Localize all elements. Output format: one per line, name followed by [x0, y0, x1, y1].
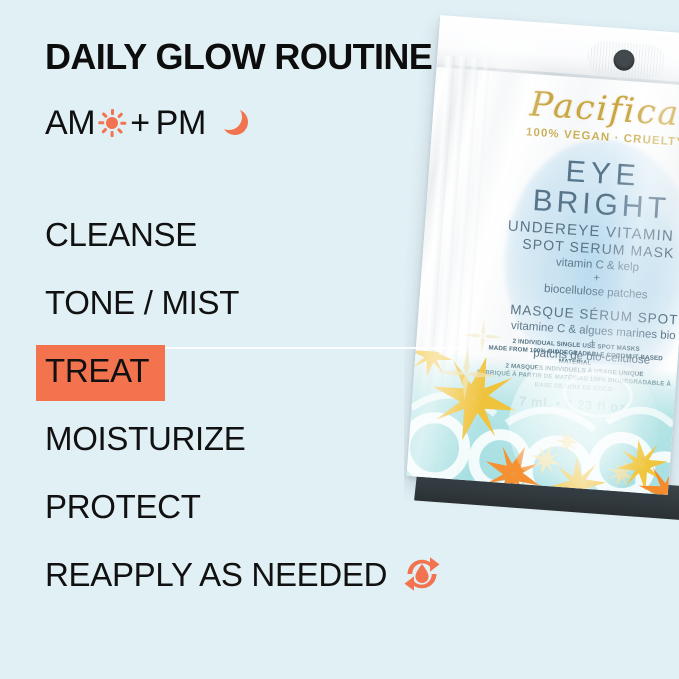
step-tone-mist[interactable]: TONE / MIST [45, 268, 465, 336]
brand-logo: Pacifica [529, 84, 679, 134]
schedule-separator: + [130, 106, 149, 140]
page-title: DAILY GLOW ROUTINE [45, 36, 432, 78]
poster-canvas: Pacifica 100% VEGAN · CRUELTY-FREE EYE B… [0, 0, 679, 679]
step-protect[interactable]: PROTECT [45, 472, 465, 540]
routine-steps-list: CLEANSE TONE / MIST TREAT MOISTURIZE PRO… [45, 200, 465, 608]
step-label: CLEANSE [45, 218, 197, 251]
step-moisturize[interactable]: MOISTURIZE [45, 404, 465, 472]
pm-label: PM [156, 106, 206, 140]
am-label: AM [45, 106, 95, 140]
step-label: MOISTURIZE [45, 422, 246, 455]
step-label: TREAT [45, 354, 149, 387]
recycle-droplet-icon [401, 553, 443, 595]
step-label: TONE / MIST [45, 286, 239, 319]
step-reapply-as-needed[interactable]: REAPPLY AS NEEDED [45, 540, 465, 608]
sun-icon [97, 108, 127, 138]
step-treat[interactable]: TREAT [45, 336, 465, 404]
step-label: REAPPLY AS NEEDED [45, 558, 387, 591]
moon-icon [220, 107, 250, 139]
step-label: PROTECT [45, 490, 201, 523]
step-cleanse[interactable]: CLEANSE [45, 200, 465, 268]
schedule-row: AM + PM [45, 100, 250, 146]
